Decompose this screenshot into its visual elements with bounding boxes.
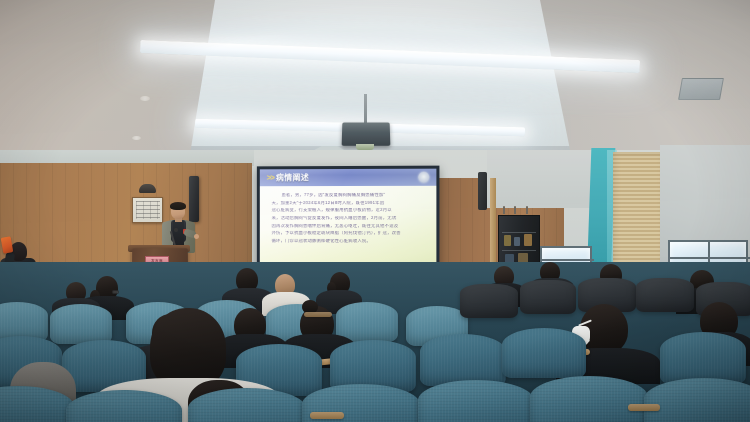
hook-icon xyxy=(503,206,505,214)
glasses-icon xyxy=(112,290,119,294)
window-mullion xyxy=(670,257,750,259)
seat-foreground[interactable] xyxy=(418,380,534,422)
projector-icon xyxy=(342,123,391,146)
slide-text-line: 循环，门诊以冠状动脉粥样硬化性心脏病收入院。 xyxy=(272,239,427,244)
seat[interactable] xyxy=(460,284,518,318)
coat-hooks xyxy=(500,206,536,214)
presenter-hair xyxy=(170,202,186,210)
projection-screen[interactable]: >> 病情阐述 患者，男，77岁，因"发反复胸闷胸痛及胸憋痛性加" 天，加重2天… xyxy=(257,166,440,272)
wall-speaker-icon xyxy=(478,172,487,210)
slide-text-line: 患者，男，77岁，因"发反复胸闷胸痛及胸憋痛性加" xyxy=(272,193,427,198)
cabinet-item xyxy=(524,234,532,246)
seat[interactable] xyxy=(636,278,694,312)
microphone-icon xyxy=(174,228,178,232)
cabinet-item xyxy=(504,235,511,246)
wall-bracket-icon xyxy=(139,184,156,193)
seat-foreground[interactable] xyxy=(188,388,306,422)
seat-foreground[interactable] xyxy=(530,376,648,422)
seat[interactable] xyxy=(520,280,576,314)
armrest xyxy=(304,312,332,317)
slide-text-line: 天，加重2天"于2024年6月12日8时入院，既往1991年因 xyxy=(272,201,427,206)
audience-area xyxy=(0,262,750,422)
presentation-slide: >> 病情阐述 患者，男，77岁，因"发反复胸闷胸痛及胸憋痛性加" 天，加重2天… xyxy=(260,169,437,269)
cabinet-shelf xyxy=(502,250,536,251)
window-blinds xyxy=(613,152,665,274)
window-mullion xyxy=(542,259,594,261)
seat[interactable] xyxy=(502,328,586,378)
downlight-icon xyxy=(132,136,141,140)
conference-hall-photo: >> 病情阐述 患者，男，77岁，因"发反复胸闷胸痛及胸憋痛性加" 天，加重2天… xyxy=(0,0,750,422)
phone-icon xyxy=(1,236,14,253)
chevron-right-icon: >> xyxy=(267,174,274,182)
slide-text-line: 来，活动后胸闷气促反复发作，夜间入睡后憋醒，2月前，无诱 xyxy=(272,216,427,221)
institution-logo-icon xyxy=(418,172,429,183)
slide-text-line: 外伤，予以抗血小板稳定斑块降脂（阿托伐他汀钙），扩冠，改善 xyxy=(272,231,427,236)
hook-icon xyxy=(526,206,528,214)
seat[interactable] xyxy=(420,334,506,386)
slide-body-text: 患者，男，77岁，因"发反复胸闷胸痛及胸憋痛性加" 天，加重2天"于2024年6… xyxy=(272,193,427,260)
hook-icon xyxy=(514,206,516,214)
right-wall-upper xyxy=(487,150,592,208)
slide-title: 病情阐述 xyxy=(276,172,309,183)
seat[interactable] xyxy=(660,332,746,384)
air-vent-icon xyxy=(678,78,724,100)
downlight-icon xyxy=(140,96,150,101)
slide-header-bar: >> 病情阐述 xyxy=(260,169,437,187)
projector-mount xyxy=(364,94,367,124)
notice-text-lines xyxy=(136,201,160,219)
slide-text-line: 因再次发作胸闷憋喘伴后背痛，无恶心呕吐，既往无其他不适及 xyxy=(272,224,427,229)
cabinet-shelf xyxy=(502,232,536,233)
seat[interactable] xyxy=(50,304,112,344)
armrest xyxy=(628,404,660,411)
armrest xyxy=(310,412,344,419)
seat-foreground[interactable] xyxy=(644,378,750,422)
presenter-hand xyxy=(194,234,199,239)
cabinet-item xyxy=(514,237,520,246)
seat[interactable] xyxy=(336,302,398,342)
slide-text-line: 冠心脏病变，行支架植入，规律服用抗血小板药物，近2月以 xyxy=(272,208,427,213)
